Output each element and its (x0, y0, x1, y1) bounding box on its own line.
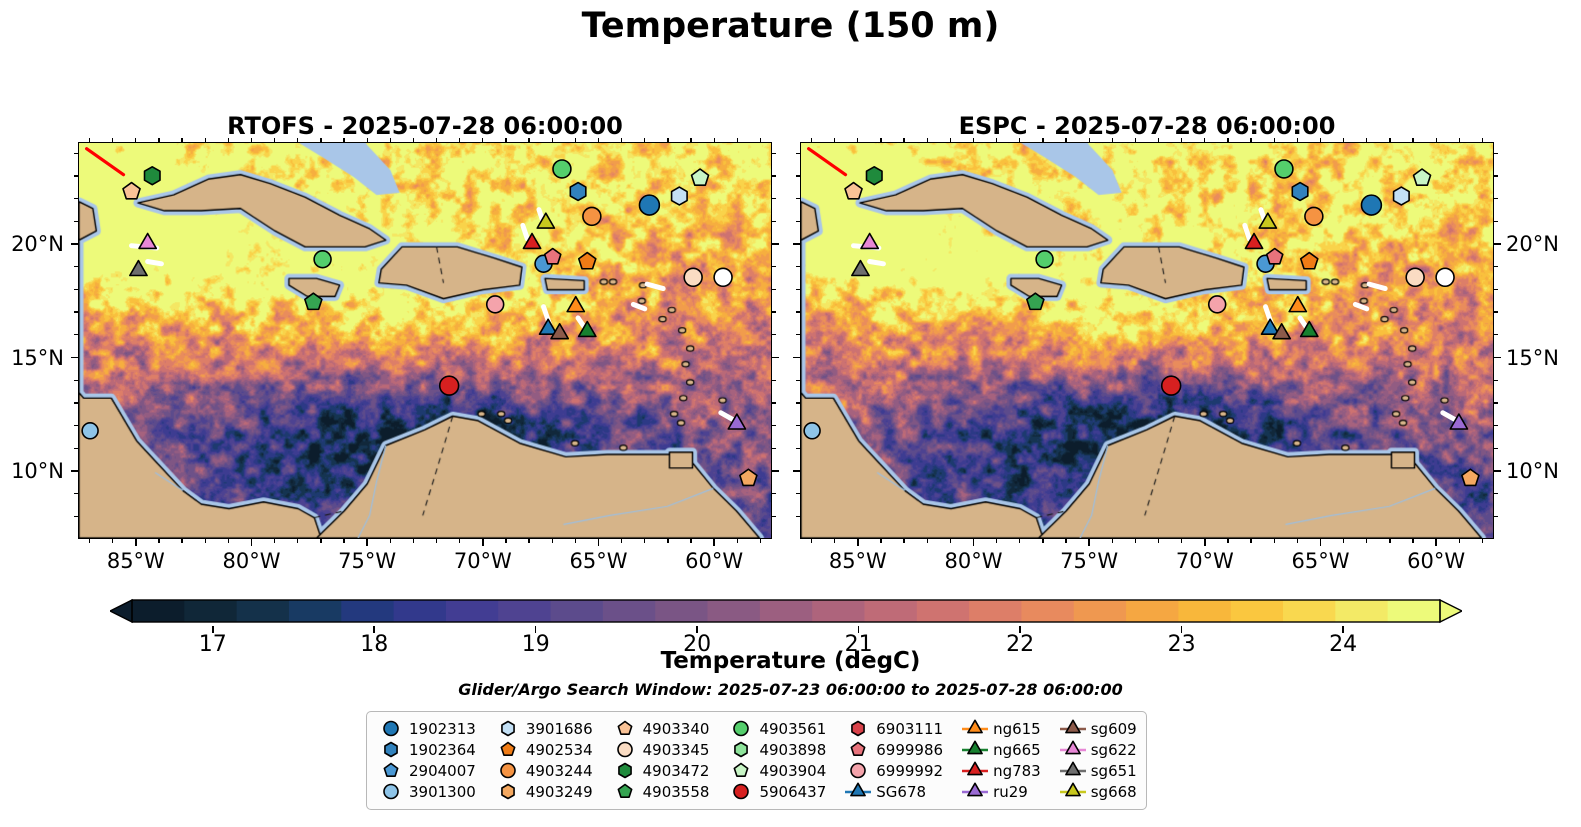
ytick-minor (772, 516, 776, 517)
legend-label-3901686: 3901686 (526, 720, 593, 738)
colorbar-band (917, 600, 970, 622)
panel-title-rtofs: RTOFS - 2025-07-28 06:00:00 (78, 112, 772, 140)
legend-item-4903898[interactable]: 4903898 (726, 739, 826, 760)
map-marker-ng615[interactable] (567, 297, 584, 312)
ytick-minor (772, 266, 776, 267)
map-marker-4903558[interactable] (1027, 293, 1044, 309)
colorbar-band (864, 600, 917, 622)
xtick-top (552, 138, 553, 142)
xtick (973, 539, 975, 546)
map-marker-1902313[interactable] (639, 195, 659, 215)
legend-label-ru29: ru29 (993, 783, 1028, 801)
map-marker-5906437[interactable] (1162, 376, 1181, 395)
colorbar-band (1231, 600, 1284, 622)
ytick-minor (772, 153, 776, 154)
xtick-top (158, 138, 159, 142)
track-white-track-2 (148, 262, 162, 264)
legend-label-4903472: 4903472 (643, 762, 710, 780)
ytick-minor (772, 311, 776, 312)
xtick-minor (1366, 539, 1367, 543)
xtick-top (297, 138, 298, 142)
legend-label-4903561: 4903561 (759, 720, 826, 738)
xtick-top (1250, 138, 1251, 142)
legend-label-sg651: sg651 (1091, 762, 1137, 780)
colorbar-band (1074, 600, 1127, 622)
legend-label-6903111: 6903111 (876, 720, 943, 738)
xtick-top (390, 138, 391, 142)
xtick-minor (528, 539, 529, 543)
xticklabel-0-3: 70°W (454, 549, 512, 573)
xtick-minor (1112, 539, 1113, 543)
ytick-minor (772, 221, 776, 222)
legend-item-1902313[interactable]: 1902313 (376, 718, 476, 739)
map-marker-6999992[interactable] (1209, 296, 1226, 313)
ytick-minor (1494, 448, 1498, 449)
xtick-top (714, 138, 715, 142)
legend-marker-sg609 (1058, 718, 1088, 739)
ytick-minor (772, 289, 776, 290)
ytick-minor (1494, 516, 1498, 517)
map-marker-sg651[interactable] (852, 261, 869, 276)
xtick (135, 539, 137, 546)
legend-item-4903244[interactable]: 4903244 (493, 760, 593, 781)
legend-item-3901300[interactable]: 3901300 (376, 781, 476, 802)
map-overlay-espc (801, 143, 1493, 538)
map-marker-3901300[interactable] (714, 268, 732, 286)
map-marker-4903249[interactable] (1462, 469, 1479, 485)
xtick-minor (690, 539, 691, 543)
xtick-minor (552, 539, 553, 543)
ytick-minor (74, 402, 78, 403)
xtick-top (880, 138, 881, 142)
xtick-top (343, 138, 344, 142)
xtick-minor (621, 539, 622, 543)
colorbar-band (969, 600, 1022, 622)
xtick-minor (1482, 539, 1483, 543)
xtick-top (1158, 138, 1159, 142)
legend-item-6999986[interactable]: 6999986 (843, 739, 943, 760)
map-marker-4903340[interactable] (845, 183, 862, 199)
ytick-minor (1494, 289, 1498, 290)
xtick-top (1297, 138, 1298, 142)
xtick-top (644, 138, 645, 142)
track-white-track-4 (1245, 225, 1250, 239)
legend-marker-4903472 (610, 760, 640, 781)
ytick-minor (772, 448, 776, 449)
xtick-top (436, 138, 437, 142)
map-marker-4903904[interactable] (1414, 169, 1431, 185)
map-marker-4903561b[interactable] (314, 251, 331, 268)
legend-label-ng783: ng783 (993, 762, 1041, 780)
colorbar-band (1021, 600, 1074, 622)
legend-item-4903472[interactable]: 4903472 (610, 760, 710, 781)
map-marker-4903472[interactable] (867, 167, 883, 185)
map-marker-4902534[interactable] (1301, 253, 1318, 269)
map-marker-3901686b[interactable] (804, 423, 820, 439)
xtick-top (205, 138, 206, 142)
legend-item-ng783[interactable]: ng783 (960, 760, 1041, 781)
legend-item-1902364[interactable]: 1902364 (376, 739, 476, 760)
xtick-minor (927, 539, 928, 543)
ytick-minor (772, 334, 776, 335)
legend-label-sg622: sg622 (1091, 741, 1137, 759)
legend-label-5906437: 5906437 (759, 783, 826, 801)
xtick-top (667, 138, 668, 142)
ytick-minor (74, 266, 78, 267)
legend-marker-ru29 (960, 781, 990, 802)
map-marker-sg651[interactable] (130, 261, 147, 276)
legend-label-4903249: 4903249 (526, 783, 593, 801)
yticklabel-right-0: 10°N (1506, 459, 1581, 483)
map-overlay-rtofs (79, 143, 771, 538)
map-marker-4903244[interactable] (1305, 207, 1323, 225)
ytick-minor (74, 221, 78, 222)
xtick-top (737, 138, 738, 142)
xtick-minor (320, 539, 321, 543)
ytick-right (1494, 243, 1501, 245)
legend-label-ng665: ng665 (993, 741, 1041, 759)
ytick-left (71, 243, 78, 245)
xtick-top (528, 138, 529, 142)
map-marker-ng615[interactable] (1289, 297, 1306, 312)
legend-marker-4903904 (726, 760, 756, 781)
xtick-minor (1158, 539, 1159, 543)
xtick-top (1389, 138, 1390, 142)
ytick-minor (74, 175, 78, 176)
xtick-minor (274, 539, 275, 543)
map-panel-rtofs[interactable] (78, 142, 772, 539)
track-red-track (87, 149, 124, 175)
xtick (1204, 539, 1206, 546)
map-marker-4903561b[interactable] (1036, 251, 1053, 268)
ytick-minor (796, 448, 800, 449)
xticklabel-1-5: 60°W (1407, 549, 1465, 573)
map-marker-4903244[interactable] (583, 207, 601, 225)
ytick-minor (772, 425, 776, 426)
legend-label-6999986: 6999986 (876, 741, 943, 759)
xtick-top (1135, 138, 1136, 142)
track-white-track-8 (1355, 304, 1366, 308)
colorbar (110, 596, 1462, 626)
xticklabel-1-1: 80°W (945, 549, 1003, 573)
legend-item-sg622[interactable]: sg622 (1058, 739, 1137, 760)
ytick-minor (74, 153, 78, 154)
xtick-top (1227, 138, 1228, 142)
ytick-minor (74, 289, 78, 290)
xtick-minor (436, 539, 437, 543)
legend-marker-ng783 (960, 760, 990, 781)
xtick-top (1089, 138, 1090, 142)
legend-item-5906437[interactable]: 5906437 (726, 781, 826, 802)
ytick-right (1494, 470, 1501, 472)
xtick-minor (413, 539, 414, 543)
xtick-minor (667, 539, 668, 543)
legend-label-3901300: 3901300 (409, 783, 476, 801)
colorbar-band (289, 600, 342, 622)
legend-item-2904007[interactable]: 2904007 (376, 760, 476, 781)
legend-label-4903244: 4903244 (526, 762, 593, 780)
xtick-minor (1181, 539, 1182, 543)
ytick-minor (74, 516, 78, 517)
ytick-minor (1494, 380, 1498, 381)
xtick-top (320, 138, 321, 142)
legend-marker-ng615 (960, 718, 990, 739)
xtick (598, 539, 600, 546)
xtick-minor (903, 539, 904, 543)
xtick-top (1274, 138, 1275, 142)
legend-marker-4903340 (610, 718, 640, 739)
xtick-top (1459, 138, 1460, 142)
ytick-minor (1494, 425, 1498, 426)
legend-item-sg668[interactable]: sg668 (1058, 781, 1137, 802)
xtick-minor (1135, 539, 1136, 543)
legend-marker-4903249 (493, 781, 523, 802)
map-marker-4903561[interactable] (1275, 160, 1293, 178)
ytick-left (793, 470, 800, 472)
xtick-minor (1250, 539, 1251, 543)
legend-label-sg609: sg609 (1091, 720, 1137, 738)
map-marker-6999992[interactable] (487, 296, 504, 313)
map-marker-6999986[interactable] (1267, 249, 1283, 264)
xtick-minor (760, 539, 761, 543)
ytick-minor (796, 289, 800, 290)
xticklabel-0-0: 85°W (107, 549, 165, 573)
xticklabel-1-0: 85°W (829, 549, 887, 573)
map-marker-4903472[interactable] (145, 167, 161, 185)
xtick-top (228, 138, 229, 142)
ytick-minor (1494, 175, 1498, 176)
xtick-minor (575, 539, 576, 543)
search-window-text: Glider/Argo Search Window: 2025-07-23 06… (0, 680, 1581, 699)
figure-suptitle: Temperature (150 m) (0, 6, 1581, 46)
map-marker-5906437[interactable] (440, 376, 459, 395)
legend-item-sg609[interactable]: sg609 (1058, 718, 1137, 739)
legend-marker-4903345 (610, 739, 640, 760)
ytick-right (772, 357, 779, 359)
xtick-minor (880, 539, 881, 543)
xtick-top (927, 138, 928, 142)
xtick-minor (811, 539, 812, 543)
ytick-minor (796, 198, 800, 199)
ytick-minor (772, 402, 776, 403)
xtick-top (1042, 138, 1043, 142)
xtick-minor (1343, 539, 1344, 543)
legend-marker-6999992 (843, 760, 873, 781)
xtick-minor (1459, 539, 1460, 543)
xtick-minor (834, 539, 835, 543)
xticklabel-1-3: 70°W (1176, 549, 1234, 573)
ytick-minor (74, 380, 78, 381)
ytick-minor (796, 380, 800, 381)
legend-label-SG678: SG678 (876, 783, 926, 801)
xtick-minor (205, 539, 206, 543)
xtick-top (1482, 138, 1483, 142)
legend-item-4902534[interactable]: 4902534 (493, 739, 593, 760)
xticklabel-0-2: 75°W (338, 549, 396, 573)
map-marker-4903904[interactable] (692, 169, 709, 185)
legend-marker-sg668 (1058, 781, 1088, 802)
legend-marker-3901686 (493, 718, 523, 739)
ytick-minor (796, 221, 800, 222)
ytick-minor (796, 175, 800, 176)
legend-marker-6903111 (843, 718, 873, 739)
ytick-minor (772, 198, 776, 199)
map-marker-4903561[interactable] (553, 160, 571, 178)
xtick-minor (297, 539, 298, 543)
xtick-top (811, 138, 812, 142)
legend-item-4903249[interactable]: 4903249 (493, 781, 593, 802)
legend-item-sg651[interactable]: sg651 (1058, 760, 1137, 781)
xtick-top (1065, 138, 1066, 142)
legend-item-SG678[interactable]: SG678 (843, 781, 943, 802)
colorbar-band (341, 600, 394, 622)
map-marker-4903345[interactable] (684, 268, 702, 286)
ytick-minor (74, 334, 78, 335)
xtick-top (760, 138, 761, 142)
legend-marker-sg651 (1058, 760, 1088, 781)
map-marker-1902313[interactable] (1361, 195, 1381, 215)
legend-label-6999992: 6999992 (876, 762, 943, 780)
colorbar-band (551, 600, 604, 622)
xtick (1320, 539, 1322, 546)
map-panel-espc[interactable] (800, 142, 1494, 539)
legend-item-ng615[interactable]: ng615 (960, 718, 1041, 739)
ytick-minor (772, 493, 776, 494)
colorbar-band (812, 600, 865, 622)
legend-item-6903111[interactable]: 6903111 (843, 718, 943, 739)
map-marker-1902364[interactable] (570, 183, 586, 201)
xtick-top (1366, 138, 1367, 142)
map-marker-3901686[interactable] (672, 187, 688, 205)
xtick-top (112, 138, 113, 142)
xticklabel-0-1: 80°W (223, 549, 281, 573)
ytick-minor (74, 425, 78, 426)
ytick-minor (74, 493, 78, 494)
colorbar-band (498, 600, 551, 622)
legend-item-4903904[interactable]: 4903904 (726, 760, 826, 781)
map-marker-4903249[interactable] (740, 469, 757, 485)
yticklabel-left-0: 10°N (0, 459, 64, 483)
xtick-top (903, 138, 904, 142)
colorbar-label: Temperature (degC) (0, 648, 1581, 674)
track-white-track-8 (633, 304, 644, 308)
legend-label-1902313: 1902313 (409, 720, 476, 738)
track-white-track-7 (1369, 284, 1385, 288)
xtick-minor (1042, 539, 1043, 543)
xtick-top (575, 138, 576, 142)
track-red-track (809, 149, 846, 175)
xtick-minor (950, 539, 951, 543)
colorbar-band (446, 600, 499, 622)
ytick-minor (1494, 198, 1498, 199)
xtick-minor (89, 539, 90, 543)
ytick-minor (772, 380, 776, 381)
xtick-top (598, 138, 599, 142)
xtick-top (1320, 138, 1321, 142)
colorbar-band (132, 600, 185, 622)
map-marker-3901686b[interactable] (82, 423, 98, 439)
legend-label-4903558: 4903558 (643, 783, 710, 801)
xtick-top (996, 138, 997, 142)
xtick-top (1019, 138, 1020, 142)
map-marker-sg622[interactable] (861, 233, 878, 248)
yticklabel-left-1: 15°N (0, 346, 64, 370)
map-marker-3901300[interactable] (1436, 268, 1454, 286)
xtick-top (1181, 138, 1182, 142)
legend-label-4903904: 4903904 (759, 762, 826, 780)
ytick-minor (1494, 311, 1498, 312)
ytick-right (1494, 357, 1501, 359)
xtick-minor (996, 539, 997, 543)
legend-item-4903345[interactable]: 4903345 (610, 739, 710, 760)
xtick-minor (1297, 539, 1298, 543)
yticklabel-left-2: 20°N (0, 232, 64, 256)
xticklabel-1-4: 65°W (1292, 549, 1350, 573)
colorbar-band (394, 600, 447, 622)
legend-marker-4903898 (726, 739, 756, 760)
xtick-top (1204, 138, 1205, 142)
colorbar-band (184, 600, 237, 622)
legend-item-ng665[interactable]: ng665 (960, 739, 1041, 760)
map-marker-1902364[interactable] (1292, 183, 1308, 201)
ytick-left (71, 357, 78, 359)
legend-item-4903561[interactable]: 4903561 (726, 718, 826, 739)
marker-legend[interactable]: 19023133901686490334049035616903111ng615… (366, 711, 1147, 810)
legend-item-4903340[interactable]: 4903340 (610, 718, 710, 739)
xtick-minor (1412, 539, 1413, 543)
legend-marker-1902364 (376, 739, 406, 760)
map-marker-4903345[interactable] (1406, 268, 1424, 286)
ytick-right (772, 470, 779, 472)
yticklabel-right-1: 15°N (1506, 346, 1581, 370)
legend-marker-4903558 (610, 781, 640, 802)
legend-item-6999992[interactable]: 6999992 (843, 760, 943, 781)
colorbar-band (1388, 600, 1441, 622)
map-marker-3901686[interactable] (1394, 187, 1410, 205)
colorbar-extend-min (110, 600, 132, 622)
legend-marker-2904007 (376, 760, 406, 781)
xtick-top (973, 138, 974, 142)
map-marker-4902534[interactable] (579, 253, 596, 269)
legend-item-4903558[interactable]: 4903558 (610, 781, 710, 802)
legend-marker-6999986 (843, 739, 873, 760)
ytick-minor (796, 334, 800, 335)
legend-label-2904007: 2904007 (409, 762, 476, 780)
colorbar-band (708, 600, 761, 622)
colorbar-extend-max (1440, 600, 1462, 622)
panel-title-espc: ESPC - 2025-07-28 06:00:00 (800, 112, 1494, 140)
legend-item-ru29[interactable]: ru29 (960, 781, 1041, 802)
xtick-top (181, 138, 182, 142)
map-marker-6999986[interactable] (545, 249, 561, 264)
legend-grid: 19023133901686490334049035616903111ng615… (376, 718, 1137, 802)
xtick (857, 539, 859, 546)
xtick-minor (228, 539, 229, 543)
legend-item-3901686[interactable]: 3901686 (493, 718, 593, 739)
xtick-top (89, 138, 90, 142)
map-marker-sg622[interactable] (139, 233, 156, 248)
legend-label-sg668: sg668 (1091, 783, 1137, 801)
colorbar-band (760, 600, 813, 622)
colorbar-band (1126, 600, 1179, 622)
legend-label-4902534: 4902534 (526, 741, 593, 759)
xtick-top (367, 138, 368, 142)
map-marker-4903558[interactable] (305, 293, 322, 309)
map-marker-4903340[interactable] (123, 183, 140, 199)
xtick-top (1112, 138, 1113, 142)
xtick-minor (1065, 539, 1066, 543)
xtick-top (251, 138, 252, 142)
